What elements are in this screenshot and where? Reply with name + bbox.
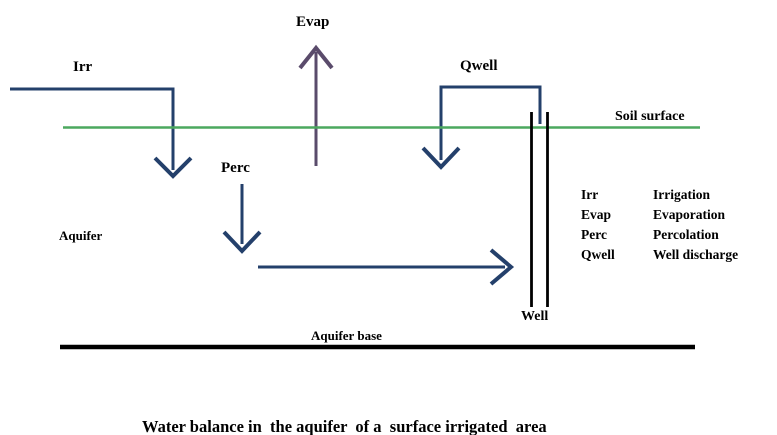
percolation-flow-arrow — [224, 184, 260, 251]
percolation-flow-label: Perc — [221, 161, 250, 177]
legend-abbr: Perc — [581, 227, 653, 243]
well-label: Well — [521, 310, 548, 325]
aquifer-base-label: Aquifer base — [311, 329, 382, 343]
legend-row: Evap Evaporation — [581, 207, 738, 227]
legend-abbr: Evap — [581, 207, 653, 223]
evaporation-flow-label: Evap — [296, 15, 329, 31]
legend-desc: Evaporation — [653, 207, 725, 223]
groundwater-lateral-flow-arrow — [258, 250, 511, 284]
abbreviation-legend: Irr Irrigation Evap Evaporation Perc Per… — [581, 187, 738, 267]
aquifer-zone-label: Aquifer — [59, 229, 102, 243]
well-discharge-flow-label: Qwell — [460, 59, 498, 75]
legend-desc: Percolation — [653, 227, 719, 243]
water-balance-diagram: Irr Evap Perc Qwell Aquifer Soil surface… — [0, 0, 777, 435]
figure-caption: Water balance in the aquifer of a surfac… — [142, 371, 547, 435]
legend-row: Irr Irrigation — [581, 187, 738, 207]
evaporation-flow-arrow — [300, 48, 332, 166]
legend-row: Qwell Well discharge — [581, 247, 738, 267]
legend-abbr: Qwell — [581, 247, 653, 263]
irrigation-flow-arrow — [10, 89, 191, 176]
legend-desc: Well discharge — [653, 247, 738, 263]
figure-caption-line-1: Water balance in the aquifer of a surfac… — [142, 416, 547, 435]
well-casing — [532, 112, 548, 307]
irrigation-flow-label: Irr — [73, 60, 92, 76]
legend-abbr: Irr — [581, 187, 653, 203]
soil-surface-label: Soil surface — [615, 110, 685, 125]
legend-row: Perc Percolation — [581, 227, 738, 247]
legend-desc: Irrigation — [653, 187, 710, 203]
